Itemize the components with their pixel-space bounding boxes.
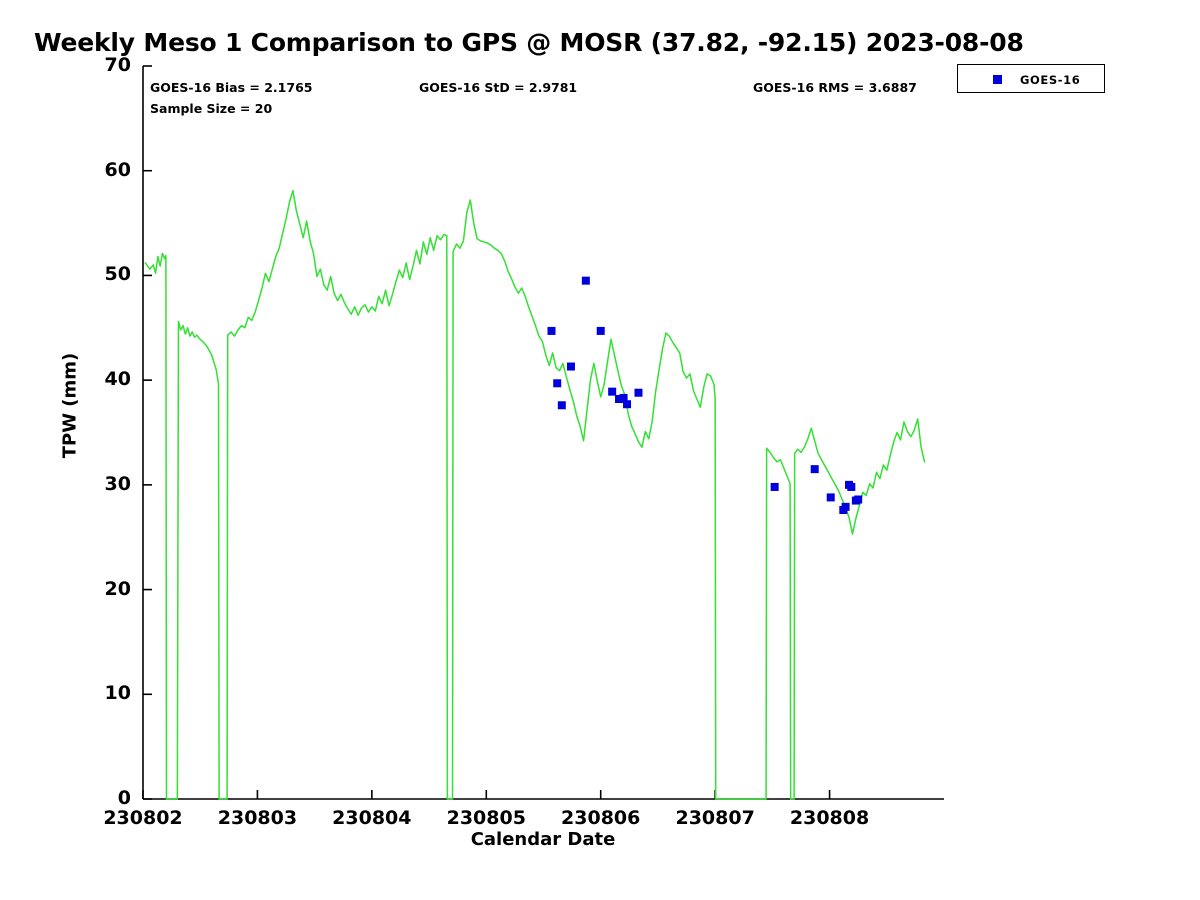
goes16-data-point bbox=[811, 465, 819, 473]
y-axis-label: TPW (mm) bbox=[60, 316, 81, 496]
goes16-data-point bbox=[827, 493, 835, 501]
y-tick-label: 10 bbox=[71, 682, 131, 704]
axis-ticks bbox=[143, 66, 830, 799]
goes16-data-point bbox=[553, 379, 561, 387]
x-tick-label: 230807 bbox=[650, 807, 780, 829]
chart-figure: Weekly Meso 1 Comparison to GPS @ MOSR (… bbox=[0, 0, 1200, 900]
y-tick-label: 20 bbox=[71, 578, 131, 600]
y-tick-label: 0 bbox=[71, 787, 131, 809]
plot-canvas bbox=[0, 0, 1200, 900]
goes16-data-point bbox=[582, 277, 590, 285]
x-tick-label: 230806 bbox=[536, 807, 666, 829]
x-tick-label: 230803 bbox=[192, 807, 322, 829]
legend-marker-goes16 bbox=[993, 75, 1002, 84]
goes16-data-point bbox=[597, 327, 605, 335]
y-tick-label: 50 bbox=[71, 263, 131, 285]
x-tick-label: 230805 bbox=[421, 807, 551, 829]
goes16-data-point bbox=[567, 363, 575, 371]
data-series bbox=[145, 191, 924, 799]
goes16-data-point bbox=[634, 389, 642, 397]
goes16-data-point bbox=[854, 496, 862, 504]
goes16-data-point bbox=[842, 503, 850, 511]
x-tick-label: 230808 bbox=[765, 807, 895, 829]
gps-line-series bbox=[145, 191, 924, 799]
legend-label-goes16: GOES-16 bbox=[1020, 73, 1080, 87]
axis-lines bbox=[143, 66, 944, 799]
goes16-data-point bbox=[847, 483, 855, 491]
chart-legend: GOES-16 bbox=[957, 64, 1105, 93]
y-tick-label: 60 bbox=[71, 159, 131, 181]
goes16-data-point bbox=[608, 388, 616, 396]
x-tick-label: 230802 bbox=[78, 807, 208, 829]
goes16-data-point bbox=[558, 401, 566, 409]
y-tick-label: 70 bbox=[71, 54, 131, 76]
goes16-data-point bbox=[623, 400, 631, 408]
x-tick-label: 230804 bbox=[307, 807, 437, 829]
goes16-data-point bbox=[771, 483, 779, 491]
x-axis-label: Calendar Date bbox=[403, 829, 683, 850]
goes16-data-point bbox=[548, 327, 556, 335]
